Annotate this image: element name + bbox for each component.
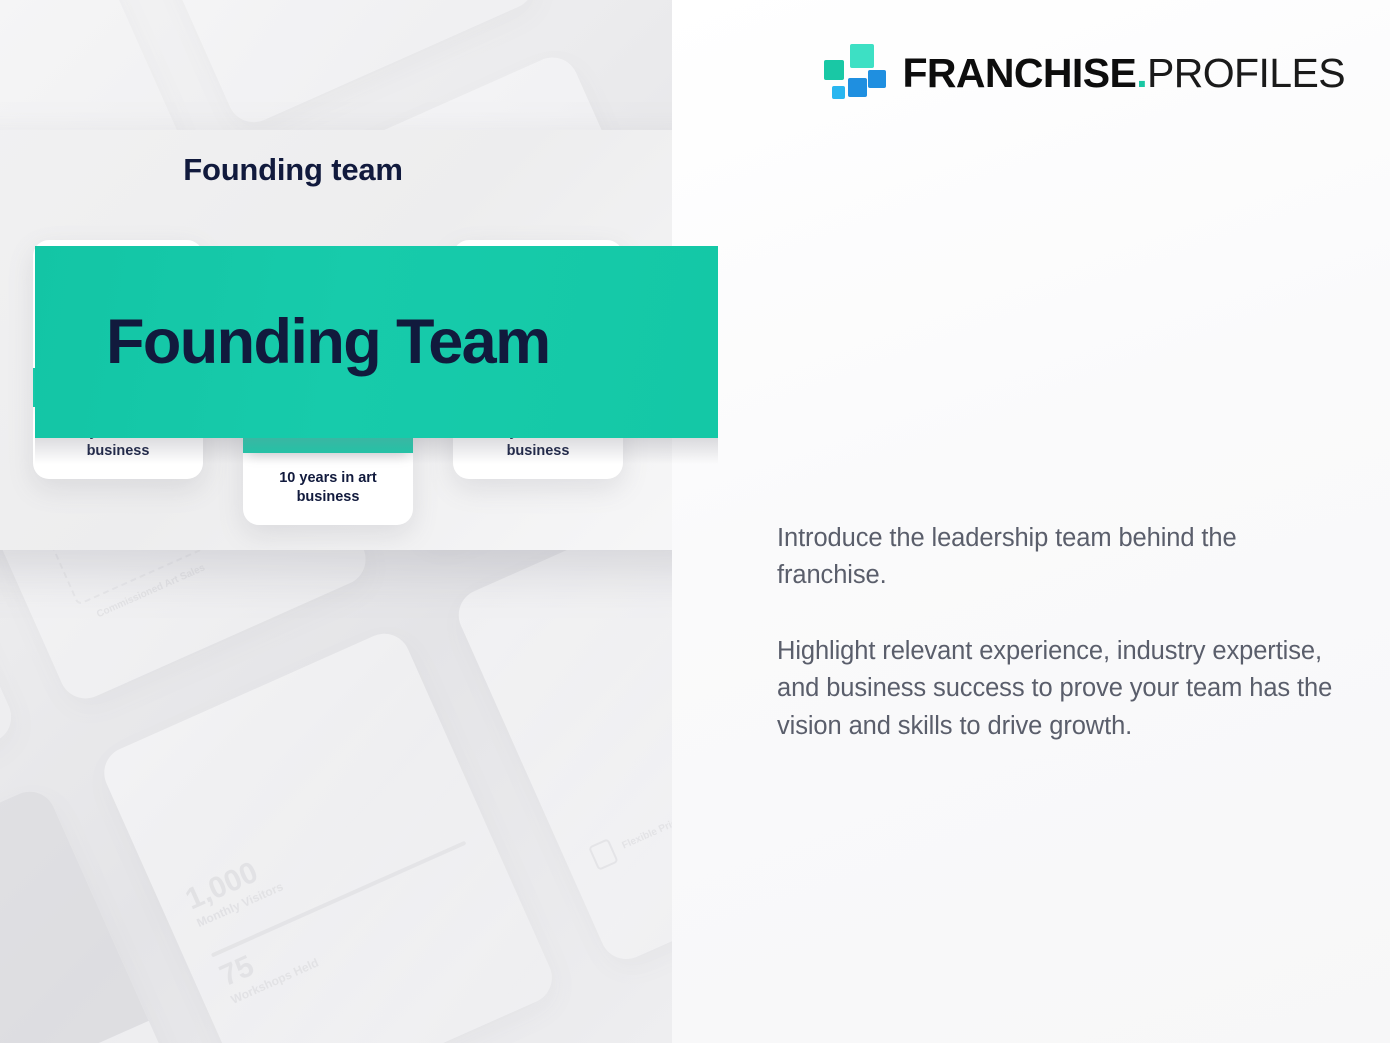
banner-drop-shadow [35, 438, 718, 464]
logo-square [824, 60, 844, 80]
section-title-banner: Founding Team [35, 246, 718, 438]
brand-word-franchise: FRANCHISE [902, 50, 1136, 96]
wallpaper-label-pricing: Flexible Pricing [620, 810, 672, 852]
logo-squares-icon [824, 42, 882, 104]
body-paragraph: Highlight relevant experience, industry … [777, 633, 1342, 745]
brand-word-dot: . [1136, 50, 1147, 96]
logo-square [848, 78, 867, 97]
tag-icon [588, 838, 619, 871]
section-body-copy: Introduce the leadership team behind the… [777, 520, 1342, 745]
logo-square [832, 86, 845, 99]
left-panel: MARKET Growing demand for creative exper… [0, 0, 672, 1043]
page-title: Founding Team [106, 311, 550, 374]
slide-root: MARKET Growing demand for creative exper… [0, 0, 1390, 1043]
body-paragraph: Introduce the leadership team behind the… [777, 520, 1342, 595]
logo-square [868, 70, 886, 88]
brand-wordmark: FRANCHISE.PROFILES [902, 53, 1345, 94]
preview-slide-title: Founding team [0, 152, 646, 188]
brand-logo[interactable]: FRANCHISE.PROFILES [824, 42, 1345, 104]
logo-square [850, 44, 874, 68]
brand-word-profiles: PROFILES [1147, 50, 1345, 96]
